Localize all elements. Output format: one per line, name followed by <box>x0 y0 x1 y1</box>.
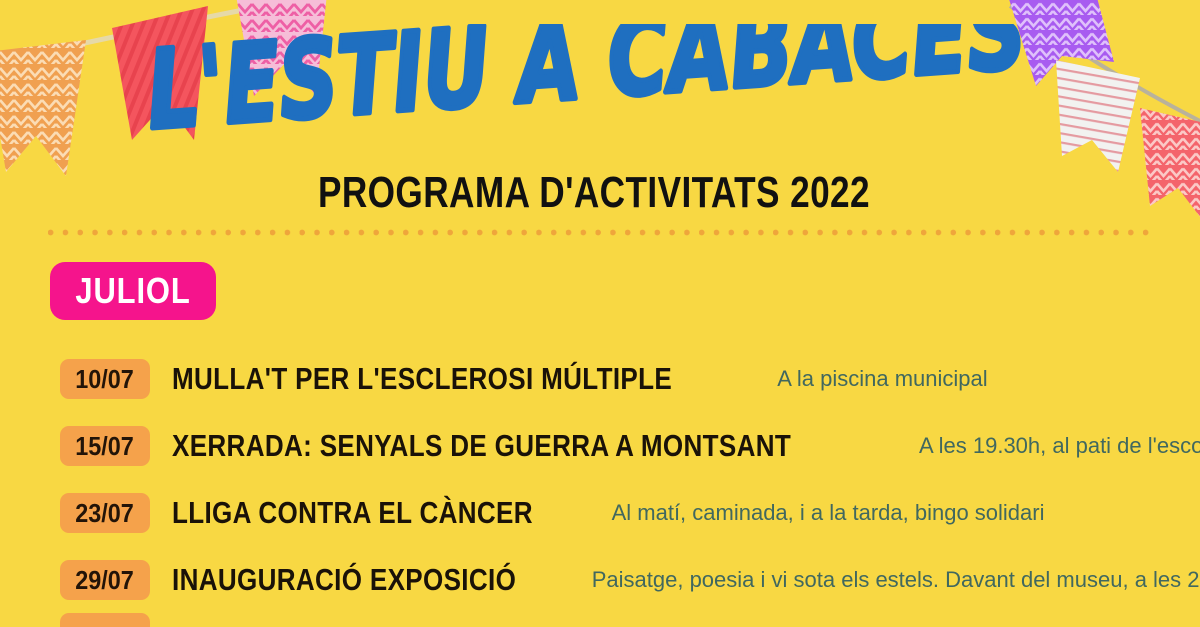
event-date-badge: 23/07 <box>60 493 150 533</box>
event-description: A les 19.30h, al pati de l'escola <box>919 435 1200 457</box>
event-row-clipped[interactable] <box>0 613 1200 627</box>
dotted-divider <box>48 228 1156 237</box>
event-title: LLIGA CONTRA EL CÀNCER <box>172 497 533 528</box>
event-description: Al matí, caminada, i a la tarda, bingo s… <box>612 502 1045 524</box>
event-row[interactable]: 10/07 MULLA'T PER L'ESCLEROSI MÚLTIPLE A… <box>0 345 1200 412</box>
event-date-label: 23/07 <box>76 500 135 526</box>
event-description: Paisatge, poesia i vi sota els estels. D… <box>592 569 1200 591</box>
event-row[interactable]: 23/07 LLIGA CONTRA EL CÀNCER Al matí, ca… <box>0 479 1200 546</box>
page-subtitle: PROGRAMA D'ACTIVITATS 2022 <box>174 170 870 216</box>
page-title: L'ESTIU A CABACÉS <box>140 24 1040 154</box>
page-title-text: L'ESTIU A CABACÉS <box>143 24 1030 154</box>
poster-canvas: L'ESTIU A CABACÉS PROGRAMA D'ACTIVITATS … <box>0 0 1200 627</box>
event-date-badge: 15/07 <box>60 426 150 466</box>
event-title: INAUGURACIÓ EXPOSICIÓ <box>172 564 516 595</box>
header-block: L'ESTIU A CABACÉS PROGRAMA D'ACTIVITATS … <box>0 18 1200 158</box>
month-badge-juliol[interactable]: JULIOL <box>50 262 216 320</box>
event-date-badge: 29/07 <box>60 560 150 600</box>
event-title: XERRADA: SENYALS DE GUERRA A MONTSANT <box>172 430 791 461</box>
month-badge-label: JULIOL <box>75 273 190 309</box>
event-description: A la piscina municipal <box>777 368 987 390</box>
event-list: 10/07 MULLA'T PER L'ESCLEROSI MÚLTIPLE A… <box>0 345 1200 627</box>
event-date-badge: 10/07 <box>60 359 150 399</box>
event-date-label: 10/07 <box>76 366 135 392</box>
event-date-badge <box>60 613 150 627</box>
event-title: MULLA'T PER L'ESCLEROSI MÚLTIPLE <box>172 363 672 394</box>
event-row[interactable]: 15/07 XERRADA: SENYALS DE GUERRA A MONTS… <box>0 412 1200 479</box>
event-row[interactable]: 29/07 INAUGURACIÓ EXPOSICIÓ Paisatge, po… <box>0 546 1200 613</box>
event-date-label: 29/07 <box>76 567 135 593</box>
event-date-label: 15/07 <box>76 433 135 459</box>
